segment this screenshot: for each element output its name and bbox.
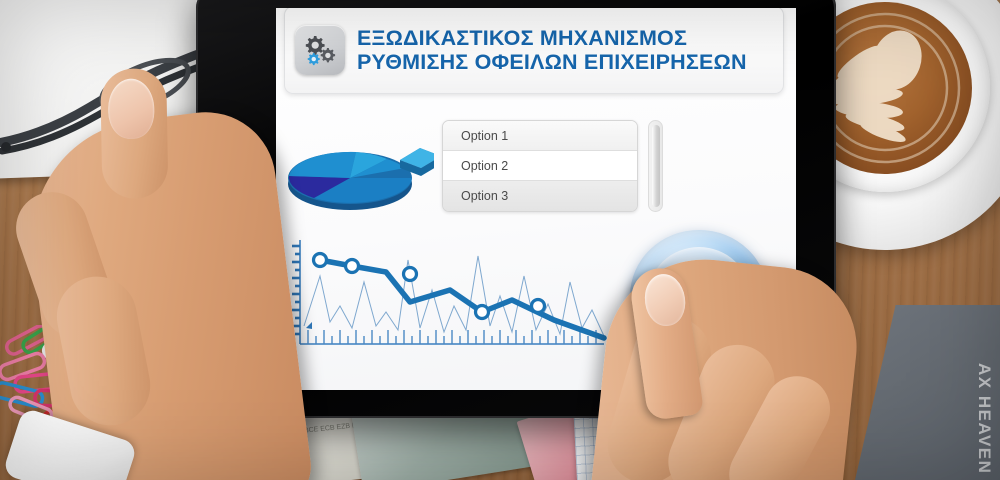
pie-chart	[284, 116, 434, 224]
trend-markers	[314, 254, 545, 319]
middle-finger	[50, 270, 157, 433]
gears-icon	[295, 25, 345, 75]
pie-slice-3	[289, 152, 356, 178]
watermark-text: AX HEAVEN	[974, 363, 994, 474]
desk-scene: BCE ECB EZB EKT EKP	[0, 0, 1000, 480]
app-title-line-1: ΕΞΩΔΙΚΑΣΤΙΚΟΣ ΜΗΧΑΝΙΣΜΟΣ	[357, 26, 747, 50]
page-title: ΕΞΩΔΙΚΑΣΤΙΚΟΣ ΜΗΧΑΝΙΣΜΟΣ ΡΥΘΜΙΣΗΣ ΟΦΕΙΛΩ…	[357, 26, 747, 74]
list-item[interactable]: Option 2	[443, 151, 637, 181]
options-list[interactable]: Option 1 Option 2 Option 3	[442, 120, 638, 212]
axis-arrow-marker	[306, 322, 312, 329]
list-item[interactable]: Option 3	[443, 181, 637, 211]
x-axis-ticks	[308, 330, 596, 344]
thumbnail	[108, 78, 155, 139]
list-item[interactable]: Option 1	[443, 121, 637, 151]
line-chart	[282, 234, 612, 358]
scrollbar-thumb[interactable]	[652, 125, 660, 207]
app-header: ΕΞΩΔΙΚΑΣΤΙΚΟΣ ΜΗΧΑΝΙΣΜΟΣ ΡΥΘΜΙΣΗΣ ΟΦΕΙΛΩ…	[284, 8, 784, 94]
options-scrollbar[interactable]	[648, 120, 663, 212]
app-title-line-2: ΡΥΘΜΙΣΗΣ ΟΦΕΙΛΩΝ ΕΠΙΧΕΙΡΗΣΕΩΝ	[357, 50, 747, 74]
